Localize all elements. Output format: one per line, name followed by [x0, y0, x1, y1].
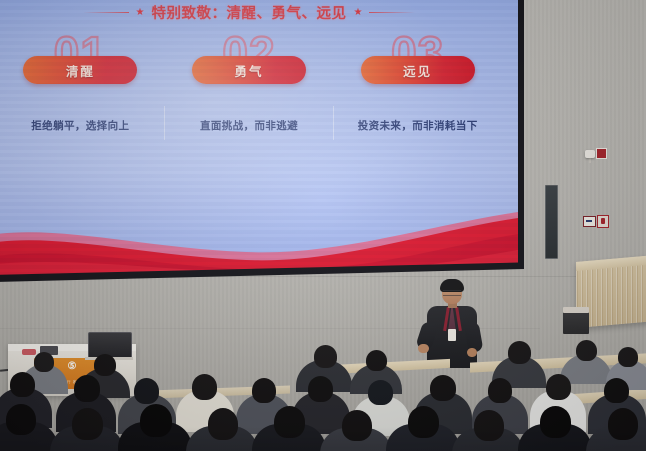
star-icon: ★ — [354, 8, 363, 18]
page-title: 特别致敬：清醒、勇气、远见 — [152, 2, 347, 23]
audience-head — [274, 406, 305, 438]
audience-head — [192, 374, 217, 400]
card-pill: 清醒 — [23, 56, 137, 84]
audience-head — [604, 378, 629, 403]
slide-card: 02 勇气 直面挑战，而非逃避 — [165, 32, 334, 148]
audience-head — [252, 378, 276, 403]
wall-speaker-panel — [545, 185, 558, 259]
audience-head — [342, 410, 372, 441]
audience — [0, 330, 646, 451]
presentation-slide: ★ 特别致敬：清醒、勇气、远见 ★ 01 清醒 拒绝躺平，选择向上 — [0, 0, 518, 276]
card-pill-label: 远见 — [361, 61, 475, 80]
card-caption: 直面挑战，而非逃避 — [165, 118, 334, 133]
audience-head — [10, 372, 35, 397]
audience-head — [508, 341, 531, 364]
security-camera-icon — [585, 150, 595, 158]
audience-head — [488, 378, 512, 403]
card-pill-label: 清醒 — [23, 61, 137, 80]
camera-warning-sign — [596, 148, 607, 159]
audience-head — [140, 404, 172, 437]
audience-head — [74, 375, 100, 402]
led-screen-bezel: ★ 特别致敬：清醒、勇气、远见 ★ 01 清醒 拒绝躺平，选择向上 — [0, 0, 524, 282]
audience-head — [6, 404, 36, 435]
card-caption: 投资未来，而非消耗当下 — [333, 118, 502, 133]
slide-card: 01 清醒 拒绝躺平，选择向上 — [0, 32, 165, 148]
audience-head — [618, 347, 638, 367]
card-pill-label: 勇气 — [192, 61, 306, 80]
led-screen: ★ 特别致敬：清醒、勇气、远见 ★ 01 清醒 拒绝躺平，选择向上 — [0, 0, 518, 276]
audience-head — [608, 408, 638, 440]
audience-head — [540, 406, 571, 438]
audience-head — [546, 374, 571, 400]
slide-title-row: ★ 特别致敬：清醒、勇气、远见 ★ — [0, 2, 502, 23]
card-caption: 拒绝躺平，选择向上 — [0, 118, 165, 133]
audience-head — [474, 410, 504, 441]
title-rule-left — [83, 12, 129, 14]
audience-head — [366, 350, 387, 371]
audience-head — [94, 354, 116, 376]
star-icon: ★ — [136, 8, 145, 18]
audience-head — [430, 375, 456, 401]
audience-head — [408, 406, 439, 438]
card-pill: 远见 — [361, 56, 475, 84]
slide-cards: 01 清醒 拒绝躺平，选择向上 02 勇气 直面挑战，而非逃避 — [0, 32, 502, 148]
audience-head — [314, 345, 337, 368]
audience-head — [208, 408, 238, 440]
card-pill: 勇气 — [192, 56, 306, 84]
slide-wave-graphic — [0, 190, 518, 276]
audience-head — [72, 408, 103, 440]
audience-head — [368, 380, 393, 405]
card-divider — [164, 106, 165, 140]
audience-head — [308, 376, 333, 402]
title-rule-right — [369, 12, 415, 14]
slide-card: 03 远见 投资未来，而非消耗当下 — [333, 32, 502, 148]
audience-head — [34, 352, 54, 372]
audience-head — [576, 340, 597, 361]
audience-head — [134, 378, 159, 404]
card-divider — [333, 106, 334, 140]
glasses-icon — [443, 290, 461, 296]
fire-alarm-sign — [597, 215, 609, 228]
equipment-box-lid — [563, 307, 589, 313]
notice-sign — [583, 216, 596, 227]
lecture-hall-photo: ★ 特别致敬：清醒、勇气、远见 ★ 01 清醒 拒绝躺平，选择向上 — [0, 0, 646, 451]
